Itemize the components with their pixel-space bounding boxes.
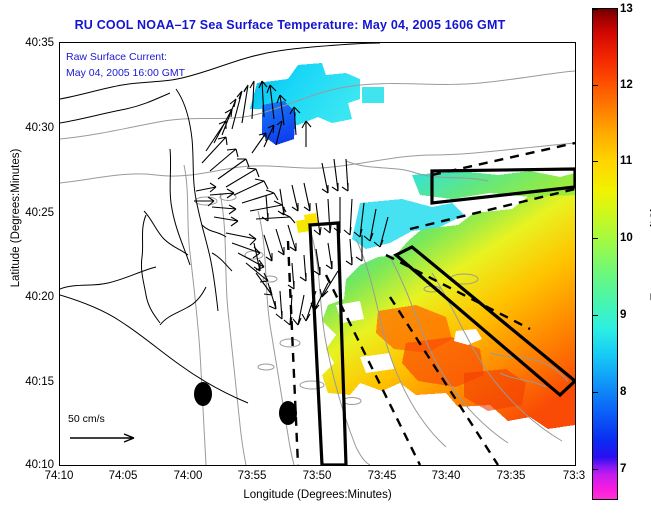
cbtick-10: 10 bbox=[620, 232, 633, 244]
colorbar-gradient bbox=[593, 9, 617, 499]
station-marker bbox=[194, 382, 212, 406]
map-canvas bbox=[60, 43, 575, 465]
ytick-4: 40:15 bbox=[54, 376, 83, 388]
scale-bar-label: 50 cm/s bbox=[68, 413, 146, 425]
station-marker bbox=[279, 401, 297, 425]
y-axis-label: Latitude (Degrees:Minutes) bbox=[10, 118, 22, 318]
sst-figure: RU COOL NOAA–17 Sea Surface Temperature:… bbox=[0, 0, 651, 515]
xtick-4: 73:50 bbox=[303, 470, 332, 482]
xtick-3: 73:55 bbox=[238, 470, 267, 482]
cbtick-13: 13 bbox=[620, 3, 633, 15]
cbtick-9: 9 bbox=[620, 309, 626, 321]
ytick-1: 40:30 bbox=[54, 122, 83, 134]
xtick-6: 73:40 bbox=[432, 470, 461, 482]
annotation-line-1: Raw Surface Current: bbox=[66, 51, 167, 63]
scale-bar-arrow-icon bbox=[68, 431, 146, 445]
ytick-2: 40:25 bbox=[54, 207, 83, 219]
xtick-0: 74:10 bbox=[45, 470, 74, 482]
xtick-2: 74:00 bbox=[174, 470, 203, 482]
xtick-1: 74:05 bbox=[109, 470, 138, 482]
x-axis-label: Longitude (Degrees:Minutes) bbox=[59, 489, 576, 501]
xtick-8: 73:3 bbox=[563, 470, 585, 482]
map-clip: Raw Surface Current: May 04, 2005 16:00 … bbox=[60, 43, 575, 465]
cbtick-12: 12 bbox=[620, 79, 633, 91]
cbtick-7: 7 bbox=[620, 463, 626, 475]
ytick-3: 40:20 bbox=[54, 291, 83, 303]
map-plot-area[interactable]: Raw Surface Current: May 04, 2005 16:00 … bbox=[59, 42, 576, 466]
velocity-scale-bar: 50 cm/s bbox=[68, 413, 146, 445]
cbtick-8: 8 bbox=[620, 386, 626, 398]
station-markers[interactable] bbox=[194, 382, 297, 425]
colorbar bbox=[592, 8, 618, 500]
cbtick-11: 11 bbox=[620, 155, 632, 167]
ytick-5: 40:10 bbox=[54, 459, 83, 471]
xtick-5: 73:45 bbox=[368, 470, 397, 482]
ytick-0: 40:35 bbox=[54, 37, 83, 49]
annotation-line-2: May 04, 2005 16:00 GMT bbox=[66, 67, 185, 79]
figure-title: RU COOL NOAA–17 Sea Surface Temperature:… bbox=[0, 18, 580, 32]
xtick-7: 73:35 bbox=[497, 470, 526, 482]
